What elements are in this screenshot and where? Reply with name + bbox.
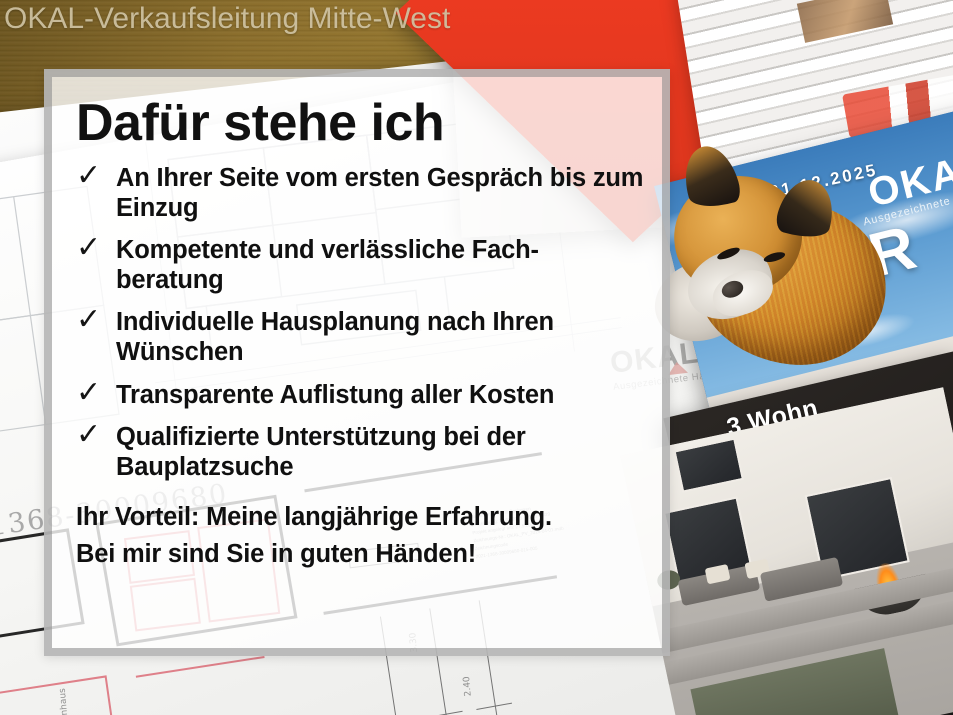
list-item-label: Kompetente und verlässliche Fach-beratun…	[116, 236, 644, 295]
list-item: ✓ Qualifizierte Unterstützung bei der Ba…	[66, 423, 644, 482]
closing-statement: Ihr Vorteil: Meine langjährige Erfahrung…	[76, 502, 644, 569]
closing-line-1: Ihr Vorteil: Meine langjährige Erfahrung…	[76, 502, 644, 533]
check-icon: ✓	[66, 379, 116, 408]
list-item: ✓ Individuelle Hausplanung nach Ihren Wü…	[66, 308, 644, 367]
closing-line-2: Bei mir sind Sie in guten Händen!	[76, 539, 644, 570]
check-icon: ✓	[66, 234, 116, 263]
check-icon: ✓	[66, 306, 116, 335]
benefits-list: ✓ An Ihrer Seite vom ersten Gespräch bis…	[66, 164, 644, 482]
fox-eye-right	[763, 250, 786, 264]
list-item-label: Transparente Auflistung aller Kosten	[116, 381, 644, 411]
list-item: ✓ Transparente Auflistung aller Kosten	[66, 381, 644, 411]
panel-title: Dafür stehe ich	[76, 97, 644, 150]
list-item: ✓ Kompetente und verlässliche Fach-berat…	[66, 236, 644, 295]
page-title: OKAL-Verkaufsleitung Mitte-West	[4, 2, 450, 36]
plush-fox-figurine	[660, 150, 890, 365]
list-item-label: An Ihrer Seite vom ersten Gespräch bis z…	[116, 164, 644, 223]
list-item-label: Qualifizierte Unterstützung bei der Baup…	[116, 423, 644, 482]
poster-image: 3.30 2.40 Treppenhaus 2.99 9 m² 1368-300…	[0, 0, 953, 715]
check-icon: ✓	[66, 421, 116, 450]
content-panel: Dafür stehe ich ✓ An Ihrer Seite vom ers…	[44, 69, 670, 656]
check-icon: ✓	[66, 162, 116, 191]
list-item: ✓ An Ihrer Seite vom ersten Gespräch bis…	[66, 164, 644, 223]
list-item-label: Individuelle Hausplanung nach Ihren Wüns…	[116, 308, 644, 367]
